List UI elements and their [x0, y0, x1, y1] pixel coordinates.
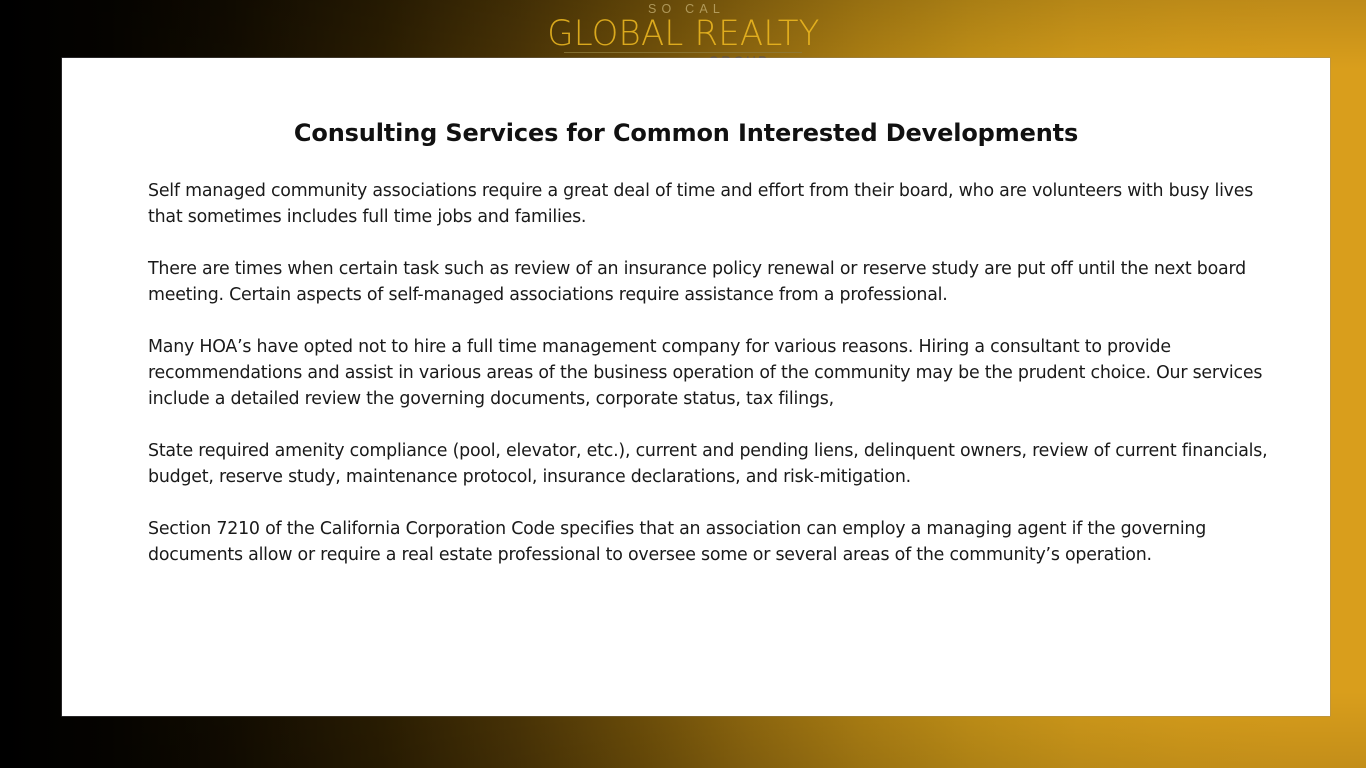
body-paragraph: State required amenity compliance (pool,… [148, 438, 1282, 490]
body-paragraph: There are times when certain task such a… [148, 256, 1282, 308]
body-paragraph: Self managed community associations requ… [148, 178, 1282, 230]
page-title: Consulting Services for Common Intereste… [86, 118, 1282, 148]
slide-content-card: Consulting Services for Common Intereste… [62, 58, 1330, 716]
body-paragraph: Many HOA’s have opted not to hire a full… [148, 334, 1282, 412]
body-paragraph: Section 7210 of the California Corporati… [148, 516, 1282, 568]
card-body: Consulting Services for Common Intereste… [62, 58, 1330, 568]
body-text-block: Self managed community associations requ… [86, 178, 1282, 568]
